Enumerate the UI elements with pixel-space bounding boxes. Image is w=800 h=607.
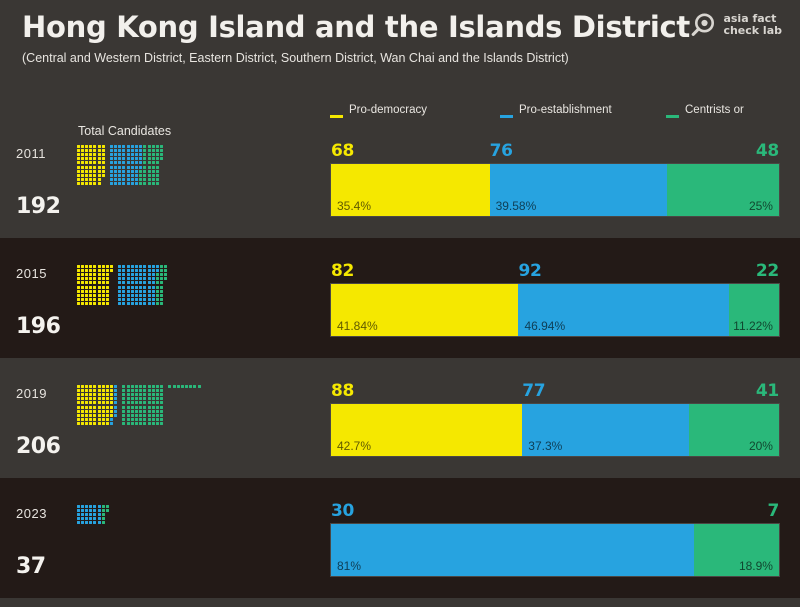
matrix-dot bbox=[143, 174, 146, 177]
matrix-dot bbox=[156, 286, 159, 289]
matrix-dot bbox=[89, 178, 92, 181]
brand-name-line1: asia fact bbox=[723, 12, 776, 25]
matrix-dot bbox=[135, 389, 138, 392]
matrix-dot bbox=[93, 166, 96, 169]
bar-segment-percent: 81% bbox=[337, 559, 361, 573]
matrix-dot bbox=[160, 406, 163, 409]
matrix-dot bbox=[106, 265, 109, 268]
matrix-dot bbox=[143, 281, 146, 284]
matrix-dot bbox=[152, 157, 155, 160]
matrix-dot bbox=[160, 302, 163, 305]
bar-segment-centrists[interactable]: 718.9% bbox=[694, 524, 779, 576]
matrix-dot bbox=[127, 418, 130, 421]
matrix-dot bbox=[106, 269, 109, 272]
matrix-dot bbox=[114, 145, 117, 148]
matrix-dot bbox=[89, 269, 92, 272]
matrix-dot bbox=[98, 509, 101, 512]
matrix-dot bbox=[131, 286, 134, 289]
matrix-dot bbox=[143, 170, 146, 173]
matrix-dot bbox=[131, 281, 134, 284]
matrix-dot bbox=[139, 385, 142, 388]
matrix-dot bbox=[93, 389, 96, 392]
matrix-dot bbox=[77, 290, 80, 293]
matrix-dot bbox=[139, 294, 142, 297]
matrix-dot bbox=[143, 290, 146, 293]
matrix-dot bbox=[85, 290, 88, 293]
matrix-dot bbox=[127, 389, 130, 392]
matrix-dot bbox=[98, 397, 101, 400]
matrix-dot bbox=[127, 157, 130, 160]
matrix-dot bbox=[135, 410, 138, 413]
matrix-dot bbox=[122, 182, 125, 185]
matrix-dot bbox=[85, 517, 88, 520]
matrix-dot bbox=[135, 269, 138, 272]
matrix-dot bbox=[98, 294, 101, 297]
matrix-dot bbox=[139, 406, 142, 409]
matrix-dot bbox=[89, 273, 92, 276]
page-subtitle: (Central and Western District, Eastern D… bbox=[22, 50, 569, 67]
matrix-dot bbox=[131, 410, 134, 413]
matrix-dot bbox=[139, 418, 142, 421]
bar-segment-pro-democracy[interactable]: 8842.7% bbox=[331, 404, 522, 456]
matrix-dot bbox=[156, 298, 159, 301]
matrix-dot bbox=[110, 393, 113, 396]
matrix-dot bbox=[135, 157, 138, 160]
matrix-dot bbox=[160, 401, 163, 404]
matrix-dot bbox=[89, 145, 92, 148]
matrix-dot bbox=[139, 178, 142, 181]
matrix-dot bbox=[85, 161, 88, 164]
matrix-dot bbox=[143, 178, 146, 181]
matrix-dot bbox=[135, 294, 138, 297]
matrix-dot bbox=[139, 277, 142, 280]
matrix-dot bbox=[81, 277, 84, 280]
matrix-dot bbox=[81, 513, 84, 516]
matrix-dot bbox=[85, 145, 88, 148]
matrix-dot bbox=[77, 157, 80, 160]
matrix-dot bbox=[127, 385, 130, 388]
matrix-block bbox=[76, 264, 114, 306]
matrix-dot bbox=[148, 397, 151, 400]
matrix-dot bbox=[106, 302, 109, 305]
matrix-dot bbox=[131, 153, 134, 156]
matrix-dot bbox=[131, 414, 134, 417]
bar-segment-value: 92 bbox=[518, 261, 541, 281]
matrix-dot bbox=[102, 157, 105, 160]
matrix-dot bbox=[77, 145, 80, 148]
matrix-dot bbox=[122, 406, 125, 409]
matrix-dot bbox=[160, 265, 163, 268]
matrix-dot bbox=[139, 422, 142, 425]
matrix-block bbox=[76, 144, 105, 186]
year-row-2023: 2023373081%718.9% bbox=[0, 478, 800, 598]
matrix-dot bbox=[131, 157, 134, 160]
matrix-dot bbox=[85, 182, 88, 185]
matrix-dot bbox=[127, 166, 130, 169]
matrix-dot bbox=[152, 182, 155, 185]
bar-segment-value: 41 bbox=[756, 381, 779, 401]
matrix-dot bbox=[139, 265, 142, 268]
matrix-dot bbox=[131, 422, 134, 425]
dot-matrix bbox=[76, 144, 164, 186]
matrix-dot bbox=[114, 170, 117, 173]
matrix-dot bbox=[114, 410, 117, 413]
header: Hong Kong Island and the Islands Distric… bbox=[0, 0, 800, 112]
matrix-dot bbox=[135, 281, 138, 284]
matrix-dot bbox=[156, 265, 159, 268]
matrix-dot bbox=[85, 170, 88, 173]
matrix-dot bbox=[102, 290, 105, 293]
matrix-dot bbox=[102, 422, 105, 425]
matrix-dot bbox=[164, 269, 167, 272]
matrix-dot bbox=[122, 302, 125, 305]
matrix-dot bbox=[131, 406, 134, 409]
matrix-dot bbox=[106, 385, 109, 388]
matrix-dot bbox=[131, 174, 134, 177]
matrix-dot bbox=[89, 281, 92, 284]
year-row-2011: 2011192Total Candidates6835.4%7639.58%48… bbox=[0, 118, 800, 238]
matrix-dot bbox=[106, 410, 109, 413]
matrix-dot bbox=[131, 161, 134, 164]
matrix-dot bbox=[152, 298, 155, 301]
matrix-dot bbox=[156, 397, 159, 400]
matrix-dot bbox=[81, 178, 84, 181]
matrix-dot bbox=[81, 418, 84, 421]
matrix-dot bbox=[131, 302, 134, 305]
matrix-dot bbox=[131, 170, 134, 173]
matrix-dot bbox=[106, 277, 109, 280]
matrix-dot bbox=[77, 286, 80, 289]
matrix-dot bbox=[77, 418, 80, 421]
matrix-dot bbox=[127, 290, 130, 293]
matrix-dot bbox=[102, 153, 105, 156]
matrix-dot bbox=[89, 161, 92, 164]
bar-segment-pro-establishment[interactable]: 9246.94% bbox=[518, 284, 728, 336]
matrix-dot bbox=[156, 178, 159, 181]
matrix-dot bbox=[102, 406, 105, 409]
matrix-dot bbox=[89, 277, 92, 280]
matrix-dot bbox=[77, 389, 80, 392]
matrix-dot bbox=[77, 294, 80, 297]
matrix-dot bbox=[81, 273, 84, 276]
bar-segment-value: 48 bbox=[756, 141, 779, 161]
matrix-dot bbox=[93, 157, 96, 160]
matrix-dot bbox=[106, 281, 109, 284]
bar-segment-pro-democracy[interactable]: 8241.84% bbox=[331, 284, 518, 336]
matrix-dot bbox=[135, 182, 138, 185]
matrix-dot bbox=[135, 174, 138, 177]
matrix-dot bbox=[106, 401, 109, 404]
matrix-dot bbox=[118, 302, 121, 305]
matrix-dot bbox=[85, 393, 88, 396]
matrix-dot bbox=[122, 145, 125, 148]
matrix-dot bbox=[135, 277, 138, 280]
matrix-dot bbox=[160, 414, 163, 417]
matrix-dot bbox=[89, 290, 92, 293]
matrix-dot bbox=[152, 145, 155, 148]
matrix-dot bbox=[93, 178, 96, 181]
matrix-dot bbox=[118, 281, 121, 284]
matrix-dot bbox=[110, 149, 113, 152]
matrix-dot bbox=[148, 418, 151, 421]
matrix-dot bbox=[81, 385, 84, 388]
matrix-dot bbox=[139, 286, 142, 289]
matrix-dot bbox=[135, 273, 138, 276]
matrix-dot bbox=[81, 170, 84, 173]
bar-segment-percent: 20% bbox=[749, 439, 773, 453]
matrix-dot bbox=[114, 414, 117, 417]
matrix-dot bbox=[81, 294, 84, 297]
matrix-dot bbox=[89, 294, 92, 297]
matrix-dot bbox=[148, 170, 151, 173]
bar-segment-pro-establishment[interactable]: 7639.58% bbox=[490, 164, 667, 216]
bar-segment-pro-establishment[interactable]: 3081% bbox=[331, 524, 694, 576]
matrix-dot bbox=[77, 269, 80, 272]
matrix-dot bbox=[85, 294, 88, 297]
matrix-dot bbox=[102, 166, 105, 169]
matrix-block bbox=[118, 264, 168, 306]
matrix-dot bbox=[148, 290, 151, 293]
matrix-dot bbox=[139, 389, 142, 392]
matrix-dot bbox=[122, 178, 125, 181]
matrix-dot bbox=[143, 161, 146, 164]
matrix-dot bbox=[81, 269, 84, 272]
matrix-dot bbox=[148, 182, 151, 185]
matrix-dot bbox=[89, 521, 92, 524]
matrix-dot bbox=[156, 401, 159, 404]
matrix-dot bbox=[77, 161, 80, 164]
matrix-dot bbox=[85, 513, 88, 516]
bar-segment-percent: 41.84% bbox=[337, 319, 378, 333]
matrix-dot bbox=[160, 393, 163, 396]
bar-segment-centrists[interactable]: 4120% bbox=[689, 404, 779, 456]
matrix-dot bbox=[102, 389, 105, 392]
matrix-dot bbox=[89, 422, 92, 425]
matrix-dot bbox=[148, 294, 151, 297]
matrix-dot bbox=[118, 286, 121, 289]
matrix-dot bbox=[106, 406, 109, 409]
matrix-dot bbox=[98, 157, 101, 160]
matrix-dot bbox=[110, 385, 113, 388]
matrix-dot bbox=[102, 410, 105, 413]
matrix-dot bbox=[164, 273, 167, 276]
matrix-dot bbox=[81, 161, 84, 164]
matrix-dot bbox=[102, 286, 105, 289]
matrix-dot bbox=[85, 509, 88, 512]
matrix-block bbox=[122, 384, 164, 426]
matrix-dot bbox=[156, 157, 159, 160]
matrix-dot bbox=[148, 174, 151, 177]
matrix-dot bbox=[164, 277, 167, 280]
matrix-dot bbox=[81, 182, 84, 185]
matrix-dot bbox=[98, 281, 101, 284]
matrix-dot bbox=[118, 174, 121, 177]
row-year-label: 2015 bbox=[16, 266, 47, 281]
matrix-dot bbox=[93, 170, 96, 173]
matrix-dot bbox=[127, 410, 130, 413]
page-title: Hong Kong Island and the Islands Distric… bbox=[22, 10, 690, 44]
bar-segment-pro-establishment[interactable]: 7737.3% bbox=[522, 404, 689, 456]
matrix-dot bbox=[131, 277, 134, 280]
bar-segment-centrists[interactable]: 4825% bbox=[667, 164, 779, 216]
matrix-dot bbox=[110, 401, 113, 404]
matrix-dot bbox=[77, 517, 80, 520]
matrix-dot bbox=[143, 406, 146, 409]
matrix-dot bbox=[93, 182, 96, 185]
matrix-dot bbox=[152, 149, 155, 152]
matrix-dot bbox=[127, 182, 130, 185]
matrix-dot bbox=[152, 389, 155, 392]
matrix-dot bbox=[102, 385, 105, 388]
matrix-dot bbox=[139, 281, 142, 284]
matrix-dot bbox=[77, 414, 80, 417]
matrix-dot bbox=[122, 414, 125, 417]
matrix-dot bbox=[185, 385, 188, 388]
matrix-dot bbox=[93, 422, 96, 425]
matrix-dot bbox=[93, 281, 96, 284]
matrix-dot bbox=[160, 389, 163, 392]
bar-segment-value: 68 bbox=[331, 141, 354, 161]
matrix-dot bbox=[98, 178, 101, 181]
matrix-dot bbox=[110, 406, 113, 409]
matrix-dot bbox=[93, 153, 96, 156]
matrix-dot bbox=[85, 389, 88, 392]
matrix-dot bbox=[156, 273, 159, 276]
matrix-dot bbox=[118, 149, 121, 152]
row-total-candidates: 192 bbox=[16, 194, 60, 219]
matrix-dot bbox=[77, 298, 80, 301]
matrix-dot bbox=[102, 298, 105, 301]
matrix-dot bbox=[156, 418, 159, 421]
matrix-dot bbox=[152, 170, 155, 173]
matrix-dot bbox=[102, 418, 105, 421]
matrix-dot bbox=[114, 178, 117, 181]
matrix-dot bbox=[81, 401, 84, 404]
matrix-dot bbox=[118, 182, 121, 185]
matrix-dot bbox=[102, 281, 105, 284]
matrix-dot bbox=[93, 273, 96, 276]
matrix-dot bbox=[77, 513, 80, 516]
matrix-dot bbox=[160, 410, 163, 413]
matrix-dot bbox=[143, 294, 146, 297]
matrix-dot bbox=[102, 269, 105, 272]
matrix-dot bbox=[152, 153, 155, 156]
matrix-dot bbox=[102, 277, 105, 280]
matrix-dot bbox=[148, 414, 151, 417]
matrix-dot bbox=[122, 422, 125, 425]
matrix-dot bbox=[77, 393, 80, 396]
bar-segment-value: 30 bbox=[331, 501, 354, 521]
matrix-dot bbox=[98, 290, 101, 293]
stacked-bar: 8842.7%7737.3%4120% bbox=[330, 403, 780, 457]
matrix-dot bbox=[156, 414, 159, 417]
matrix-dot bbox=[98, 161, 101, 164]
matrix-dot bbox=[177, 385, 180, 388]
matrix-dot bbox=[77, 406, 80, 409]
matrix-dot bbox=[89, 170, 92, 173]
matrix-dot bbox=[131, 178, 134, 181]
matrix-dot bbox=[152, 290, 155, 293]
matrix-dot bbox=[127, 401, 130, 404]
matrix-dot bbox=[102, 170, 105, 173]
matrix-dot bbox=[131, 418, 134, 421]
matrix-dot bbox=[98, 277, 101, 280]
matrix-dot bbox=[139, 410, 142, 413]
matrix-dot bbox=[152, 410, 155, 413]
matrix-dot bbox=[139, 302, 142, 305]
matrix-dot bbox=[148, 273, 151, 276]
matrix-dot bbox=[118, 290, 121, 293]
matrix-dot bbox=[131, 166, 134, 169]
matrix-dot bbox=[156, 406, 159, 409]
matrix-dot bbox=[156, 393, 159, 396]
matrix-dot bbox=[85, 406, 88, 409]
matrix-dot bbox=[122, 290, 125, 293]
matrix-dot bbox=[89, 418, 92, 421]
matrix-dot bbox=[81, 153, 84, 156]
matrix-dot bbox=[160, 281, 163, 284]
matrix-dot bbox=[98, 385, 101, 388]
matrix-dot bbox=[77, 410, 80, 413]
matrix-dot bbox=[81, 505, 84, 508]
matrix-dot bbox=[148, 157, 151, 160]
matrix-dot bbox=[85, 298, 88, 301]
matrix-dot bbox=[139, 273, 142, 276]
matrix-dot bbox=[102, 509, 105, 512]
matrix-dot bbox=[156, 149, 159, 152]
matrix-dot bbox=[98, 273, 101, 276]
matrix-dot bbox=[98, 418, 101, 421]
matrix-dot bbox=[77, 302, 80, 305]
matrix-dot bbox=[98, 265, 101, 268]
matrix-dot bbox=[77, 166, 80, 169]
matrix-dot bbox=[148, 149, 151, 152]
matrix-dot bbox=[148, 401, 151, 404]
matrix-dot bbox=[148, 166, 151, 169]
matrix-dot bbox=[77, 273, 80, 276]
matrix-dot bbox=[85, 521, 88, 524]
matrix-dot bbox=[152, 161, 155, 164]
matrix-dot bbox=[152, 273, 155, 276]
matrix-dot bbox=[102, 149, 105, 152]
matrix-dot bbox=[77, 281, 80, 284]
matrix-dot bbox=[143, 277, 146, 280]
matrix-dot bbox=[131, 385, 134, 388]
bar-segment-value: 88 bbox=[331, 381, 354, 401]
matrix-block bbox=[168, 384, 202, 388]
matrix-dot bbox=[148, 385, 151, 388]
matrix-dot bbox=[93, 161, 96, 164]
matrix-block bbox=[109, 144, 163, 186]
dot-matrix bbox=[76, 264, 168, 306]
matrix-dot bbox=[89, 302, 92, 305]
bar-segment-percent: 25% bbox=[749, 199, 773, 213]
matrix-dot bbox=[106, 286, 109, 289]
matrix-dot bbox=[139, 298, 142, 301]
matrix-dot bbox=[89, 389, 92, 392]
matrix-dot bbox=[198, 385, 201, 388]
matrix-dot bbox=[143, 401, 146, 404]
matrix-dot bbox=[98, 393, 101, 396]
matrix-dot bbox=[152, 178, 155, 181]
matrix-dot bbox=[118, 145, 121, 148]
matrix-dot bbox=[85, 153, 88, 156]
bar-segment-pro-democracy[interactable]: 6835.4% bbox=[331, 164, 490, 216]
matrix-dot bbox=[152, 414, 155, 417]
bar-segment-centrists[interactable]: 2211.22% bbox=[729, 284, 779, 336]
matrix-dot bbox=[85, 397, 88, 400]
matrix-dot bbox=[110, 153, 113, 156]
